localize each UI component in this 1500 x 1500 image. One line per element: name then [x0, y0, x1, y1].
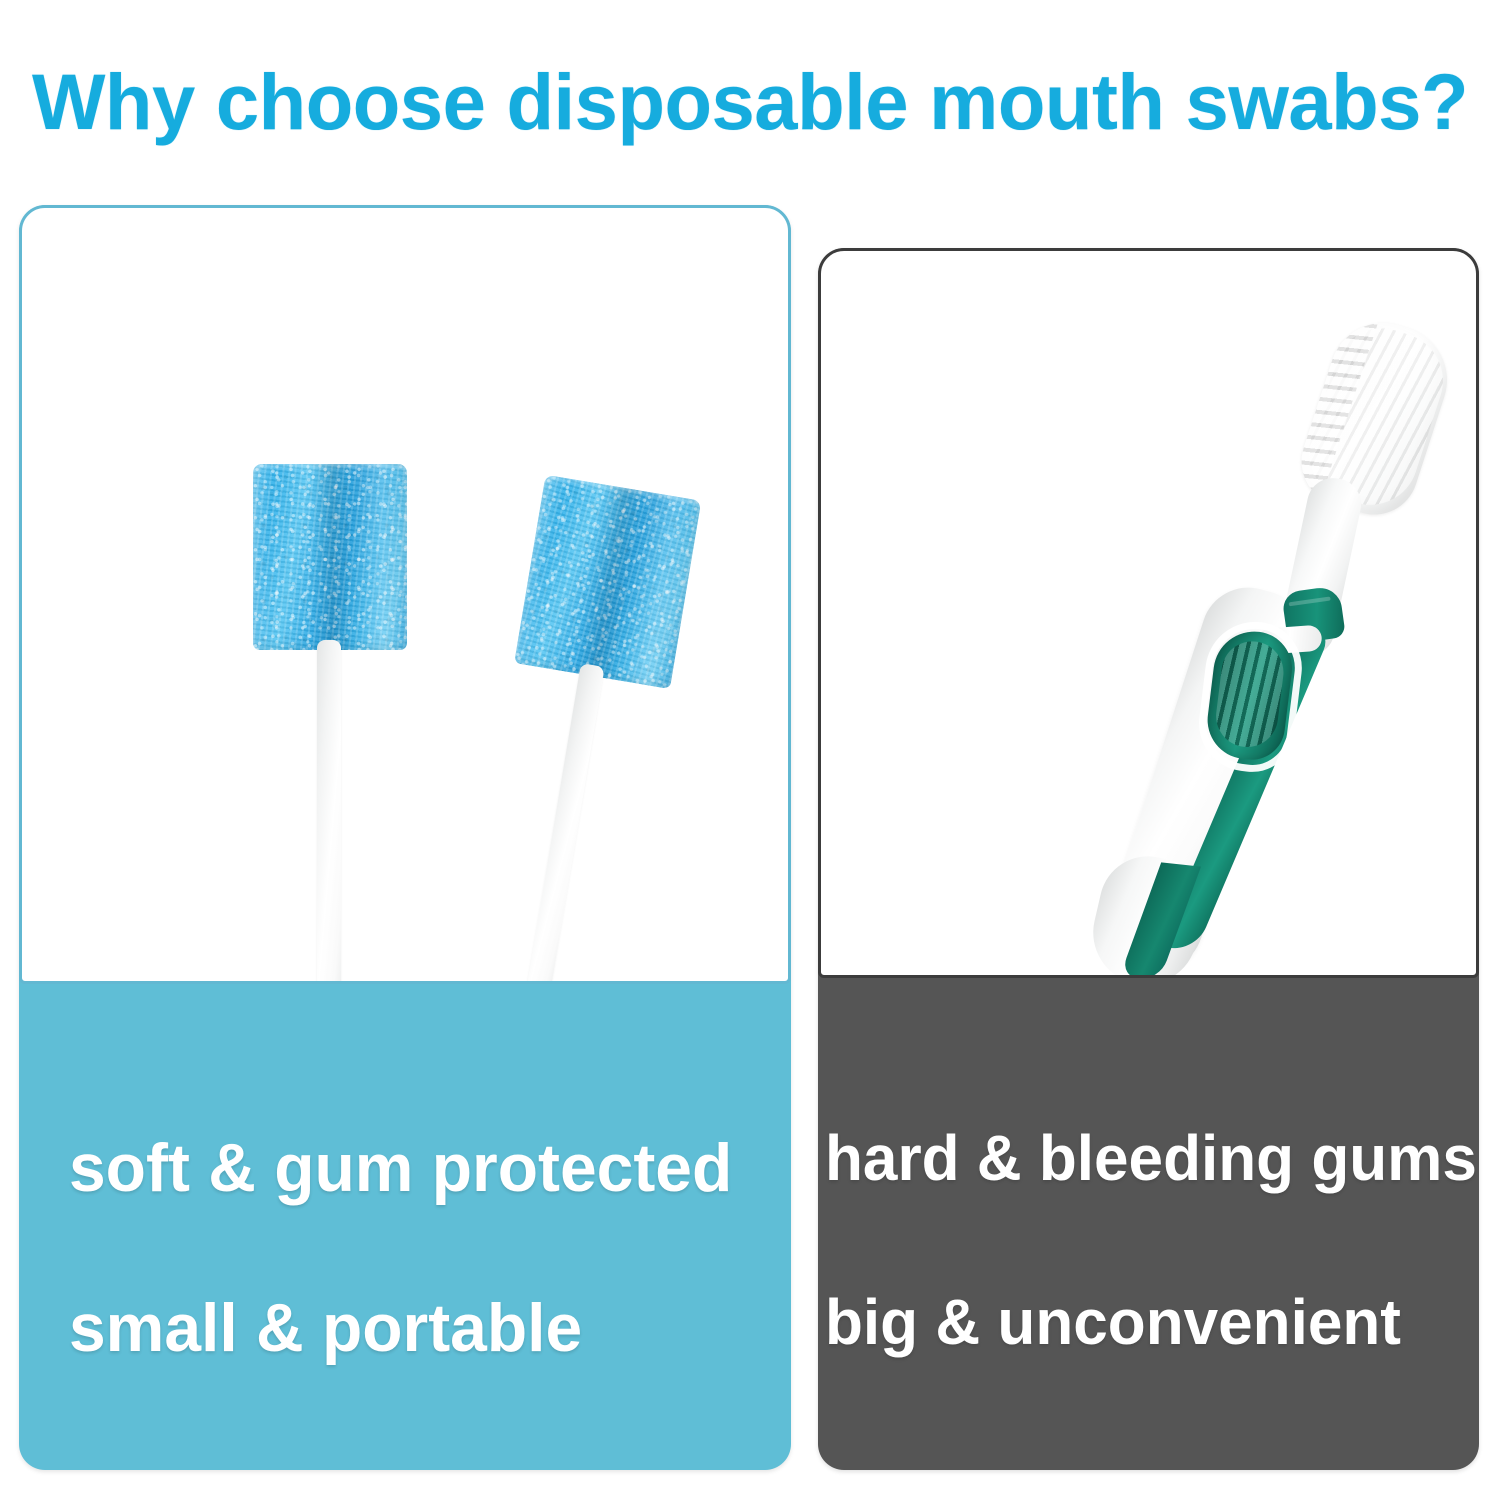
comparison-card-toothbrush: hard & bleeding gums big & unconvenient — [818, 248, 1479, 1470]
toothbrush-drawback-line-1: hard & bleeding gums — [825, 1126, 1477, 1190]
toothbrush-illustration — [821, 251, 1476, 975]
swab-benefit-line-1: soft & gum protected — [69, 1134, 732, 1202]
sponge-head-icon — [514, 475, 701, 689]
page-title: Why choose disposable mouth swabs? — [11, 62, 1489, 141]
toothbrush-photo — [818, 248, 1479, 978]
toothbrush-caption-block: hard & bleeding gums big & unconvenient — [818, 978, 1479, 1470]
swab-photo — [19, 205, 791, 984]
mouth-swab-tilted — [19, 205, 791, 984]
swab-benefit-line-2: small & portable — [69, 1294, 582, 1362]
comparison-card-swab: soft & gum protected small & portable — [19, 205, 791, 1470]
swab-caption-block: soft & gum protected small & portable — [19, 984, 791, 1470]
toothbrush-icon — [1050, 265, 1479, 978]
toothbrush-drawback-line-2: big & unconvenient — [825, 1290, 1401, 1354]
swab-stick — [498, 663, 604, 984]
